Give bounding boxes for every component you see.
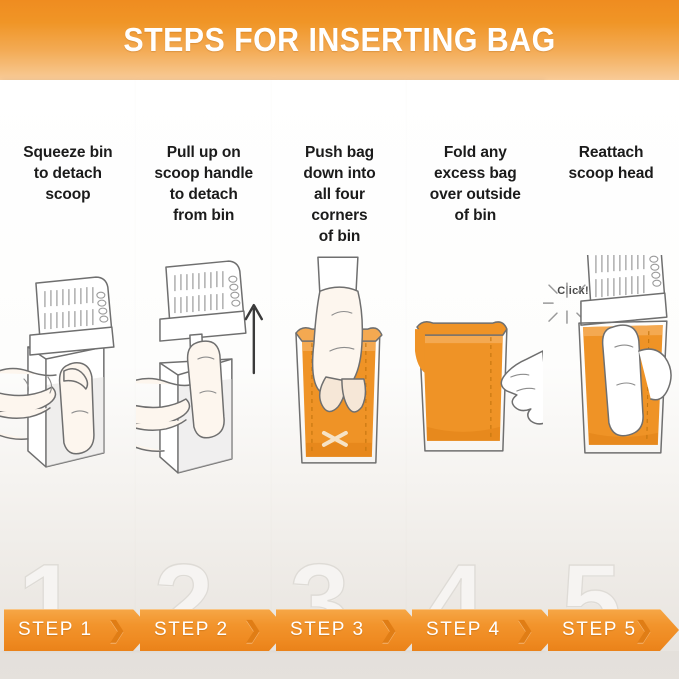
steps-columns: Squeeze bin to detach scoop 1: [0, 80, 679, 650]
caption-line: excess bag: [411, 163, 539, 184]
caption-line: all four: [276, 184, 404, 205]
step-illustration-2: [136, 255, 272, 515]
caption-line: to detach: [140, 184, 268, 205]
step-caption-2: Pull up on scoop handle to detach from b…: [140, 142, 268, 226]
step-banner-label-5: STEP 5: [562, 619, 637, 641]
step-column-4: Fold any excess bag over outside of bin …: [407, 80, 543, 650]
up-arrow-icon: [246, 305, 262, 373]
step-illustration-4: [407, 255, 543, 515]
caption-line: scoop head: [547, 163, 675, 184]
chevron-right-icon: ❯: [108, 619, 126, 641]
step-banner-row: STEP 1 ❯ STEP 2 ❯ STEP 3 ❯ STEP 4 ❯ STEP…: [0, 609, 679, 651]
step-banner-label-3: STEP 3: [290, 619, 365, 641]
footer-strip: [0, 651, 679, 679]
step-banner-1[interactable]: STEP 1 ❯: [4, 609, 152, 651]
step-column-3: Push bag down into all four corners of b…: [272, 80, 408, 650]
step-column-2: Pull up on scoop handle to detach from b…: [136, 80, 272, 650]
caption-line: to detach: [4, 163, 132, 184]
step-banner-5[interactable]: STEP 5 ❯: [548, 609, 679, 651]
instruction-poster: STEPS FOR INSERTING BAG Squeeze bin to d…: [0, 0, 679, 679]
step-banner-4[interactable]: STEP 4 ❯: [412, 609, 560, 651]
step-illustration-1: [0, 255, 136, 515]
step-illustration-5: [543, 255, 679, 515]
caption-line: from bin: [140, 205, 268, 226]
step-caption-4: Fold any excess bag over outside of bin: [411, 142, 539, 226]
step-column-1: Squeeze bin to detach scoop 1: [0, 80, 136, 650]
chevron-right-icon: ❯: [635, 619, 653, 641]
caption-line: down into: [276, 163, 404, 184]
step-caption-3: Push bag down into all four corners of b…: [276, 142, 404, 247]
caption-line: Squeeze bin: [4, 142, 132, 163]
step-caption-5: Reattach scoop head: [547, 142, 675, 184]
step-banner-3[interactable]: STEP 3 ❯: [276, 609, 424, 651]
step-banner-label-2: STEP 2: [154, 619, 229, 641]
page-title: STEPS FOR INSERTING BAG: [27, 0, 652, 80]
caption-line: of bin: [276, 226, 404, 247]
step-banner-label-4: STEP 4: [426, 619, 501, 641]
caption-line: of bin: [411, 205, 539, 226]
chevron-right-icon: ❯: [244, 619, 262, 641]
caption-line: scoop handle: [140, 163, 268, 184]
step-column-5: Reattach scoop head 5 Click!: [543, 80, 679, 650]
caption-line: Fold any: [411, 142, 539, 163]
chevron-right-icon: ❯: [380, 619, 398, 641]
caption-line: Reattach: [547, 142, 675, 163]
caption-line: Pull up on: [140, 142, 268, 163]
caption-line: scoop: [4, 184, 132, 205]
caption-line: over outside: [411, 184, 539, 205]
chevron-right-icon: ❯: [516, 619, 534, 641]
step-caption-1: Squeeze bin to detach scoop: [4, 142, 132, 205]
step-banner-2[interactable]: STEP 2 ❯: [140, 609, 288, 651]
step-banner-label-1: STEP 1: [18, 619, 93, 641]
header-bar: STEPS FOR INSERTING BAG: [0, 0, 679, 80]
caption-line: Push bag: [276, 142, 404, 163]
steps-board: Squeeze bin to detach scoop 1: [0, 80, 679, 679]
step-illustration-3: [272, 255, 408, 515]
caption-line: corners: [276, 205, 404, 226]
